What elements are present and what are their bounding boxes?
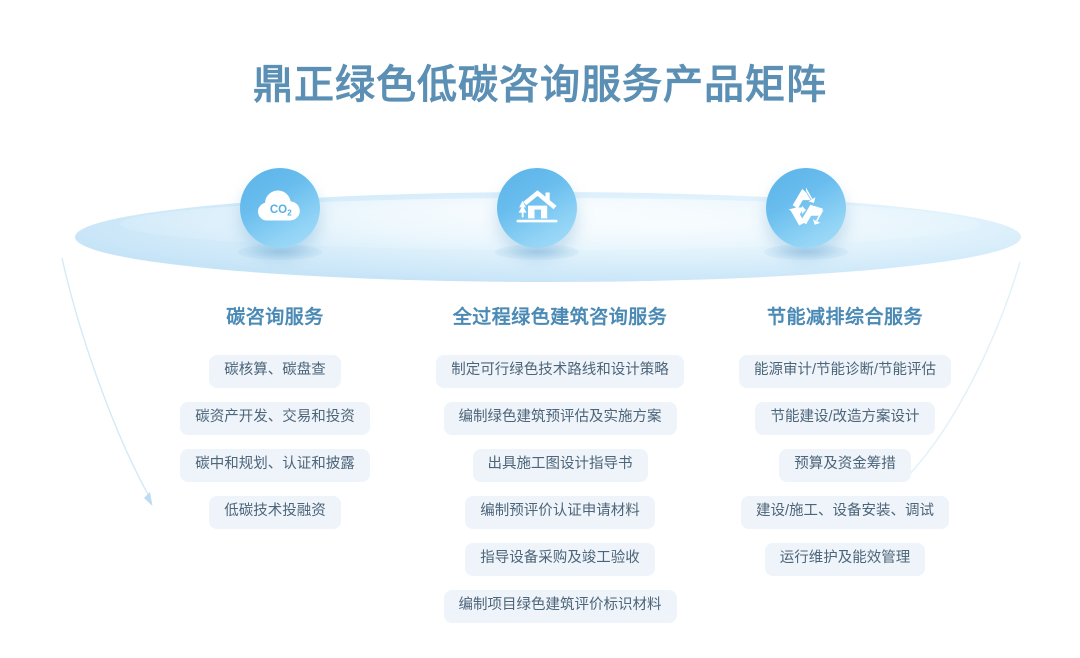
- service-column-energy: 节能减排综合服务 能源审计/节能诊断/节能评估 节能建设/改造方案设计 预算及资…: [705, 302, 985, 590]
- column-heading-building: 全过程绿色建筑咨询服务: [453, 302, 668, 329]
- icon-circle-energy: [766, 168, 846, 248]
- service-column-building: 全过程绿色建筑咨询服务 制定可行绿色技术路线和设计策略 编制绿色建筑预评估及实施…: [410, 302, 710, 637]
- page-title: 鼎正绿色低碳咨询服务产品矩阵: [0, 52, 1080, 110]
- recycle-icon: [784, 184, 828, 233]
- service-item[interactable]: 碳资产开发、交易和投资: [180, 402, 370, 435]
- service-item[interactable]: 能源审计/节能诊断/节能评估: [739, 355, 951, 388]
- service-item[interactable]: 运行维护及能效管理: [765, 543, 926, 576]
- column-heading-energy: 节能减排综合服务: [767, 302, 923, 329]
- service-column-carbon: 碳咨询服务 碳核算、碳盘查 碳资产开发、交易和投资 碳中和规划、认证和披露 低碳…: [135, 302, 415, 543]
- service-item[interactable]: 碳核算、碳盘查: [209, 355, 341, 388]
- svg-text:CO: CO: [270, 204, 287, 216]
- service-item[interactable]: 碳中和规划、认证和披露: [180, 449, 370, 482]
- service-item[interactable]: 制定可行绿色技术路线和设计策略: [436, 355, 684, 388]
- service-item[interactable]: 编制项目绿色建筑评价标识材料: [444, 590, 677, 623]
- service-item[interactable]: 低碳技术投融资: [209, 496, 341, 529]
- service-item[interactable]: 编制预评价认证申请材料: [465, 496, 655, 529]
- service-item[interactable]: 预算及资金筹措: [779, 449, 911, 482]
- green-building-house-icon: [514, 185, 560, 232]
- service-item[interactable]: 出具施工图设计指导书: [473, 449, 648, 482]
- icon-circle-carbon: CO 2: [240, 168, 320, 248]
- icon-circle-building: [497, 168, 577, 248]
- svg-text:2: 2: [287, 208, 292, 217]
- service-item[interactable]: 编制绿色建筑预评估及实施方案: [444, 402, 677, 435]
- column-heading-carbon: 碳咨询服务: [226, 302, 324, 329]
- service-item[interactable]: 节能建设/改造方案设计: [755, 402, 934, 435]
- service-item[interactable]: 建设/施工、设备安装、调试: [741, 496, 949, 529]
- service-item[interactable]: 指导设备采购及竣工验收: [465, 543, 655, 576]
- service-columns: 碳咨询服务 碳核算、碳盘查 碳资产开发、交易和投资 碳中和规划、认证和披露 低碳…: [0, 302, 1080, 637]
- co2-cloud-icon: CO 2: [256, 186, 304, 231]
